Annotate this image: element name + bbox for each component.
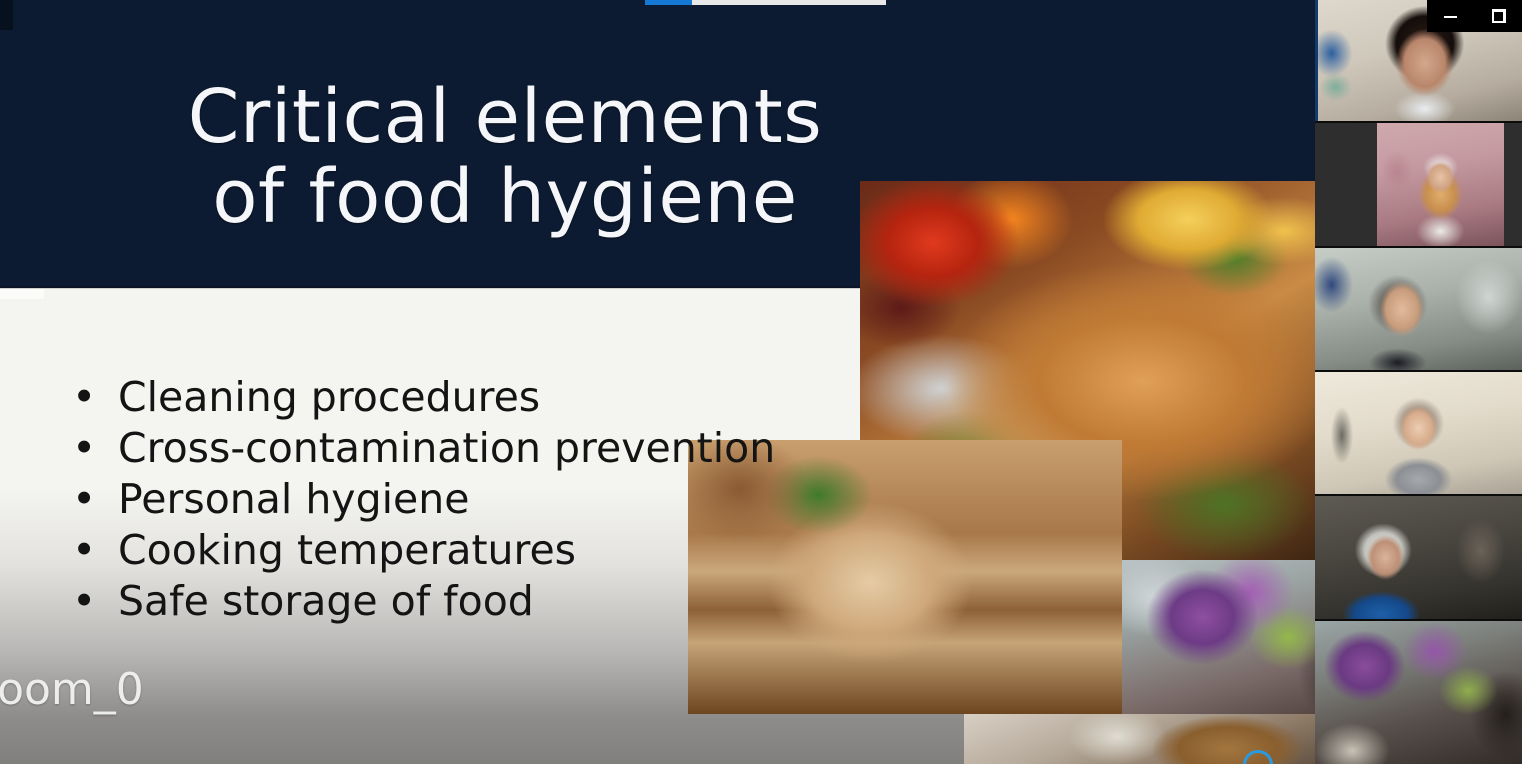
restore-icon <box>1492 10 1505 23</box>
list-item: •Safe storage of food <box>62 576 762 627</box>
participant-video-strip[interactable]: Participant 1 Participant 2 Participant … <box>1315 0 1522 764</box>
restore-button[interactable] <box>1481 0 1515 32</box>
slide-bullet-list: •Cleaning procedures •Cross-contaminatio… <box>62 372 762 627</box>
bullet-icon: • <box>72 474 96 525</box>
list-item-label: Personal hygiene <box>118 475 469 523</box>
shared-slide: Critical elements of food hygiene •Clean… <box>0 0 1522 764</box>
bullet-icon: • <box>72 525 96 576</box>
bullet-icon: • <box>72 423 96 474</box>
zoom-watermark: zoom_0 <box>0 662 144 718</box>
progress-bar-fill <box>645 0 692 5</box>
list-item: •Cross-contamination prevention <box>62 423 762 474</box>
slide-body-left-notch <box>0 289 44 299</box>
participant-tile-4[interactable]: Participant 4 <box>1315 372 1522 494</box>
list-item-label: Cleaning procedures <box>118 373 540 421</box>
list-item: •Cooking temperatures <box>62 525 762 576</box>
participant-5-video <box>1315 496 1522 619</box>
minimize-button[interactable] <box>1434 0 1468 32</box>
participant-2-video <box>1377 123 1504 246</box>
list-item-label: Cooking temperatures <box>118 526 576 574</box>
participant-tile-3[interactable]: Participant 3 <box>1315 248 1522 370</box>
list-item: •Cleaning procedures <box>62 372 762 423</box>
minimize-icon <box>1444 11 1457 22</box>
participant-6-video <box>1315 621 1522 764</box>
screen-share-window: Critical elements of food hygiene •Clean… <box>0 0 1522 764</box>
participant-3-video <box>1315 248 1522 370</box>
list-item-label: Safe storage of food <box>118 577 534 625</box>
bullet-icon: • <box>72 576 96 627</box>
progress-bar-track[interactable] <box>645 0 886 5</box>
list-item: •Personal hygiene <box>62 474 762 525</box>
participant-2-pillarbox-left <box>1315 123 1377 246</box>
participant-tile-5[interactable]: Participant 5 <box>1315 496 1522 619</box>
participant-2-pillarbox-right <box>1504 123 1522 246</box>
title-band-corner-tint <box>0 0 13 30</box>
participant-tile-6[interactable]: Participant 6 <box>1315 621 1522 764</box>
bullet-icon: • <box>72 372 96 423</box>
participant-1-active-border <box>1315 0 1318 121</box>
participant-tile-2[interactable]: Participant 2 <box>1315 123 1522 246</box>
participant-4-video <box>1315 372 1522 494</box>
window-controls <box>1427 0 1522 32</box>
slide-title: Critical elements of food hygiene <box>0 78 1010 238</box>
list-item-label: Cross-contamination prevention <box>118 424 775 472</box>
